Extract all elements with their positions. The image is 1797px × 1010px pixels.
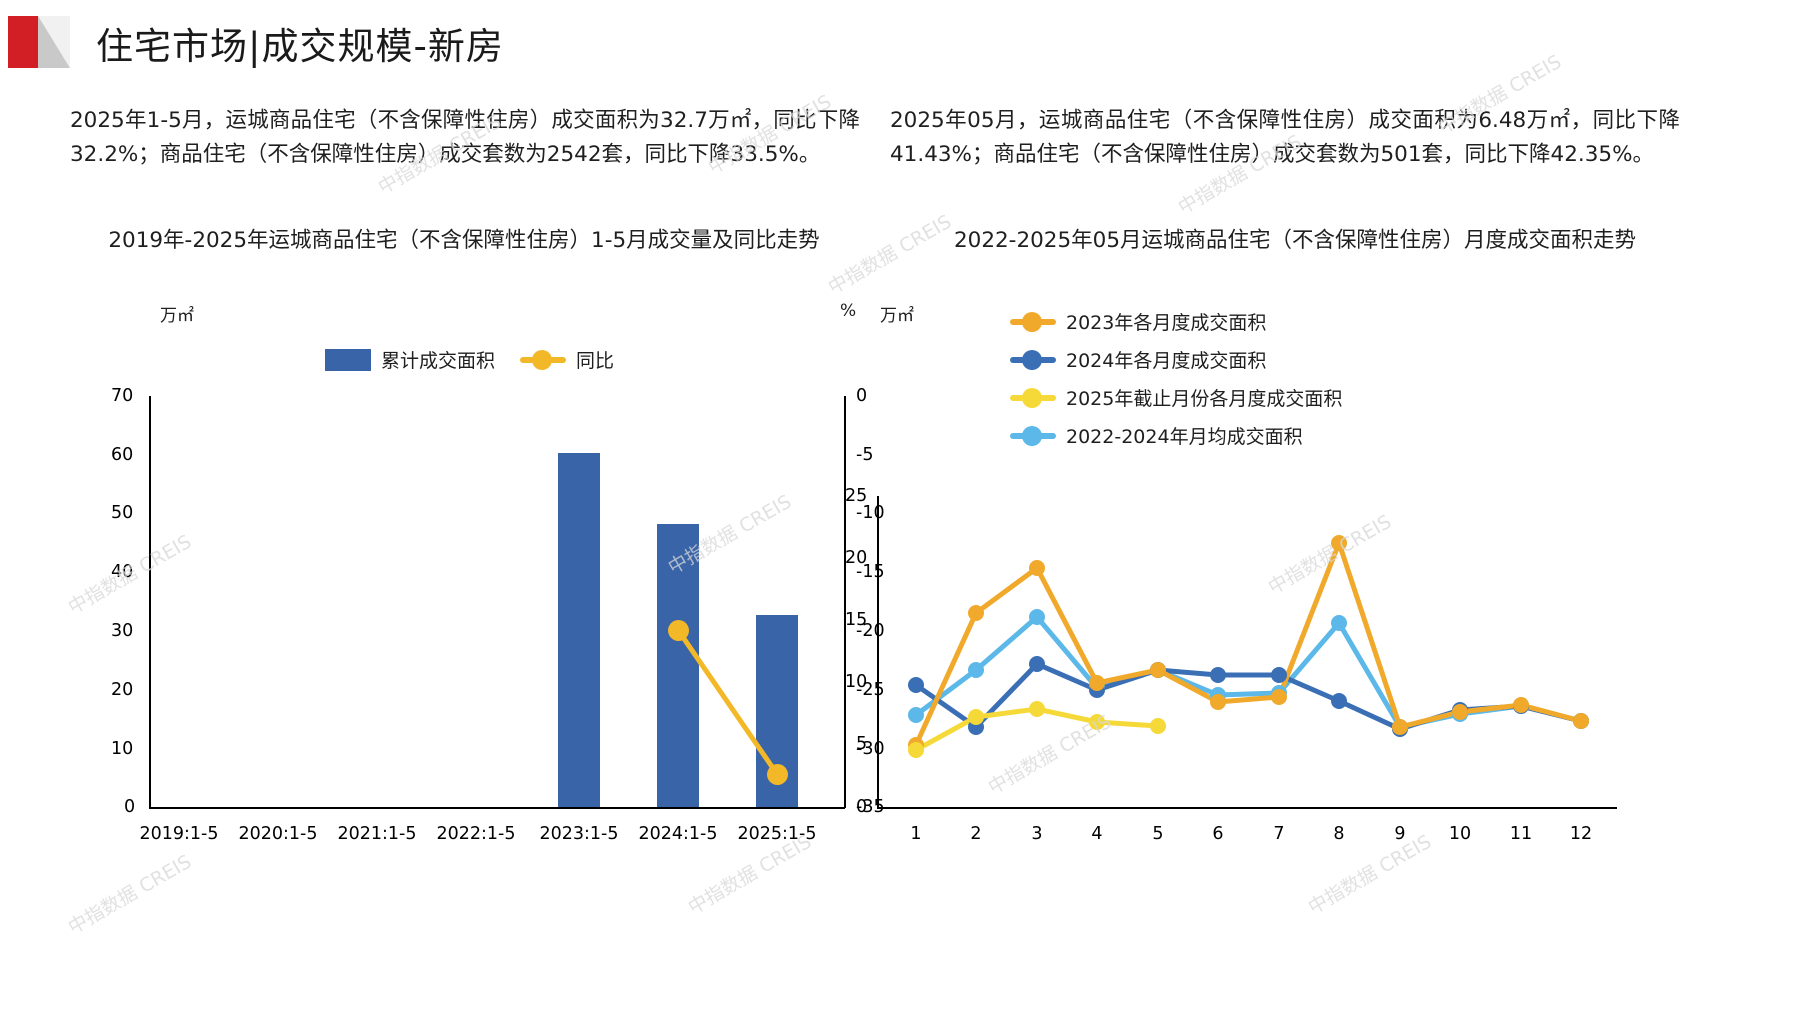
right-xtick-3: 3 xyxy=(1012,824,1062,844)
y2023-point-4[interactable] xyxy=(1089,675,1105,691)
y2024-point-3[interactable] xyxy=(1029,656,1045,672)
right-ytick-15: 15 xyxy=(845,610,867,630)
right-y-axis xyxy=(877,496,879,808)
y2024-point-8[interactable] xyxy=(1331,693,1347,709)
y2025-point-3[interactable] xyxy=(1029,701,1045,717)
left-xtick-2019: 2019:1-5 xyxy=(129,824,229,844)
y2023-point-11[interactable] xyxy=(1513,697,1529,713)
creis-logo-icon xyxy=(8,14,70,70)
y2024-point-6[interactable] xyxy=(1210,667,1226,683)
right-xtick-7: 7 xyxy=(1254,824,1304,844)
right-series-lines xyxy=(900,96,1797,896)
y2023-point-8[interactable] xyxy=(1331,535,1347,551)
avg-point-3[interactable] xyxy=(1029,609,1045,625)
right-chart-plot: 25 20 15 10 5 0 xyxy=(900,96,1797,896)
y2023-point-2[interactable] xyxy=(968,605,984,621)
y2023-point-6[interactable] xyxy=(1210,694,1226,710)
y2023-point-7[interactable] xyxy=(1271,689,1287,705)
page-title: 住宅市场|成交规模-新房 xyxy=(96,16,504,70)
avg-point-1[interactable] xyxy=(908,707,924,723)
left-yoy-line xyxy=(0,96,900,896)
left-xtick-2020: 2020:1-5 xyxy=(228,824,328,844)
right-xtick-5: 5 xyxy=(1133,824,1183,844)
y2025-point-5[interactable] xyxy=(1150,718,1166,734)
right-ytick-5: 5 xyxy=(856,734,867,754)
yoy-point-2024[interactable] xyxy=(668,620,689,641)
left-chart-plot: 70 60 50 40 30 20 10 0 0 -5 -10 -15 -20 … xyxy=(0,96,900,896)
left-xtick-2025: 2025:1-5 xyxy=(727,824,827,844)
yoy-point-2025[interactable] xyxy=(767,764,788,785)
y2025-point-1[interactable] xyxy=(908,742,924,758)
right-xtick-9: 9 xyxy=(1375,824,1425,844)
right-xtick-10: 10 xyxy=(1435,824,1485,844)
page-header: 住宅市场|成交规模-新房 xyxy=(0,0,1797,86)
y2023-point-12[interactable] xyxy=(1573,713,1589,729)
y2023-point-3[interactable] xyxy=(1029,560,1045,576)
right-xtick-4: 4 xyxy=(1072,824,1122,844)
right-ytick-0: 0 xyxy=(856,797,867,817)
avg-point-2[interactable] xyxy=(968,662,984,678)
right-ytick-20: 20 xyxy=(845,548,867,568)
y2025-point-4[interactable] xyxy=(1089,714,1105,730)
right-ytick-25: 25 xyxy=(845,486,867,506)
y2025-point-2[interactable] xyxy=(968,709,984,725)
left-xtick-2021: 2021:1-5 xyxy=(327,824,427,844)
avg-point-8[interactable] xyxy=(1331,615,1347,631)
right-xtick-6: 6 xyxy=(1193,824,1243,844)
left-xtick-2022: 2022:1-5 xyxy=(426,824,526,844)
left-xtick-2024: 2024:1-5 xyxy=(628,824,728,844)
right-xtick-12: 12 xyxy=(1556,824,1606,844)
y2023-point-10[interactable] xyxy=(1452,704,1468,720)
y2024-point-1[interactable] xyxy=(908,677,924,693)
right-xtick-11: 11 xyxy=(1496,824,1546,844)
right-ytick-10: 10 xyxy=(845,672,867,692)
left-xtick-2023: 2023:1-5 xyxy=(529,824,629,844)
y2024-point-7[interactable] xyxy=(1271,667,1287,683)
right-xtick-1: 1 xyxy=(891,824,941,844)
right-xtick-2: 2 xyxy=(951,824,1001,844)
y2023-point-9[interactable] xyxy=(1392,719,1408,735)
y2023-point-5[interactable] xyxy=(1150,662,1166,678)
right-xtick-8: 8 xyxy=(1314,824,1364,844)
